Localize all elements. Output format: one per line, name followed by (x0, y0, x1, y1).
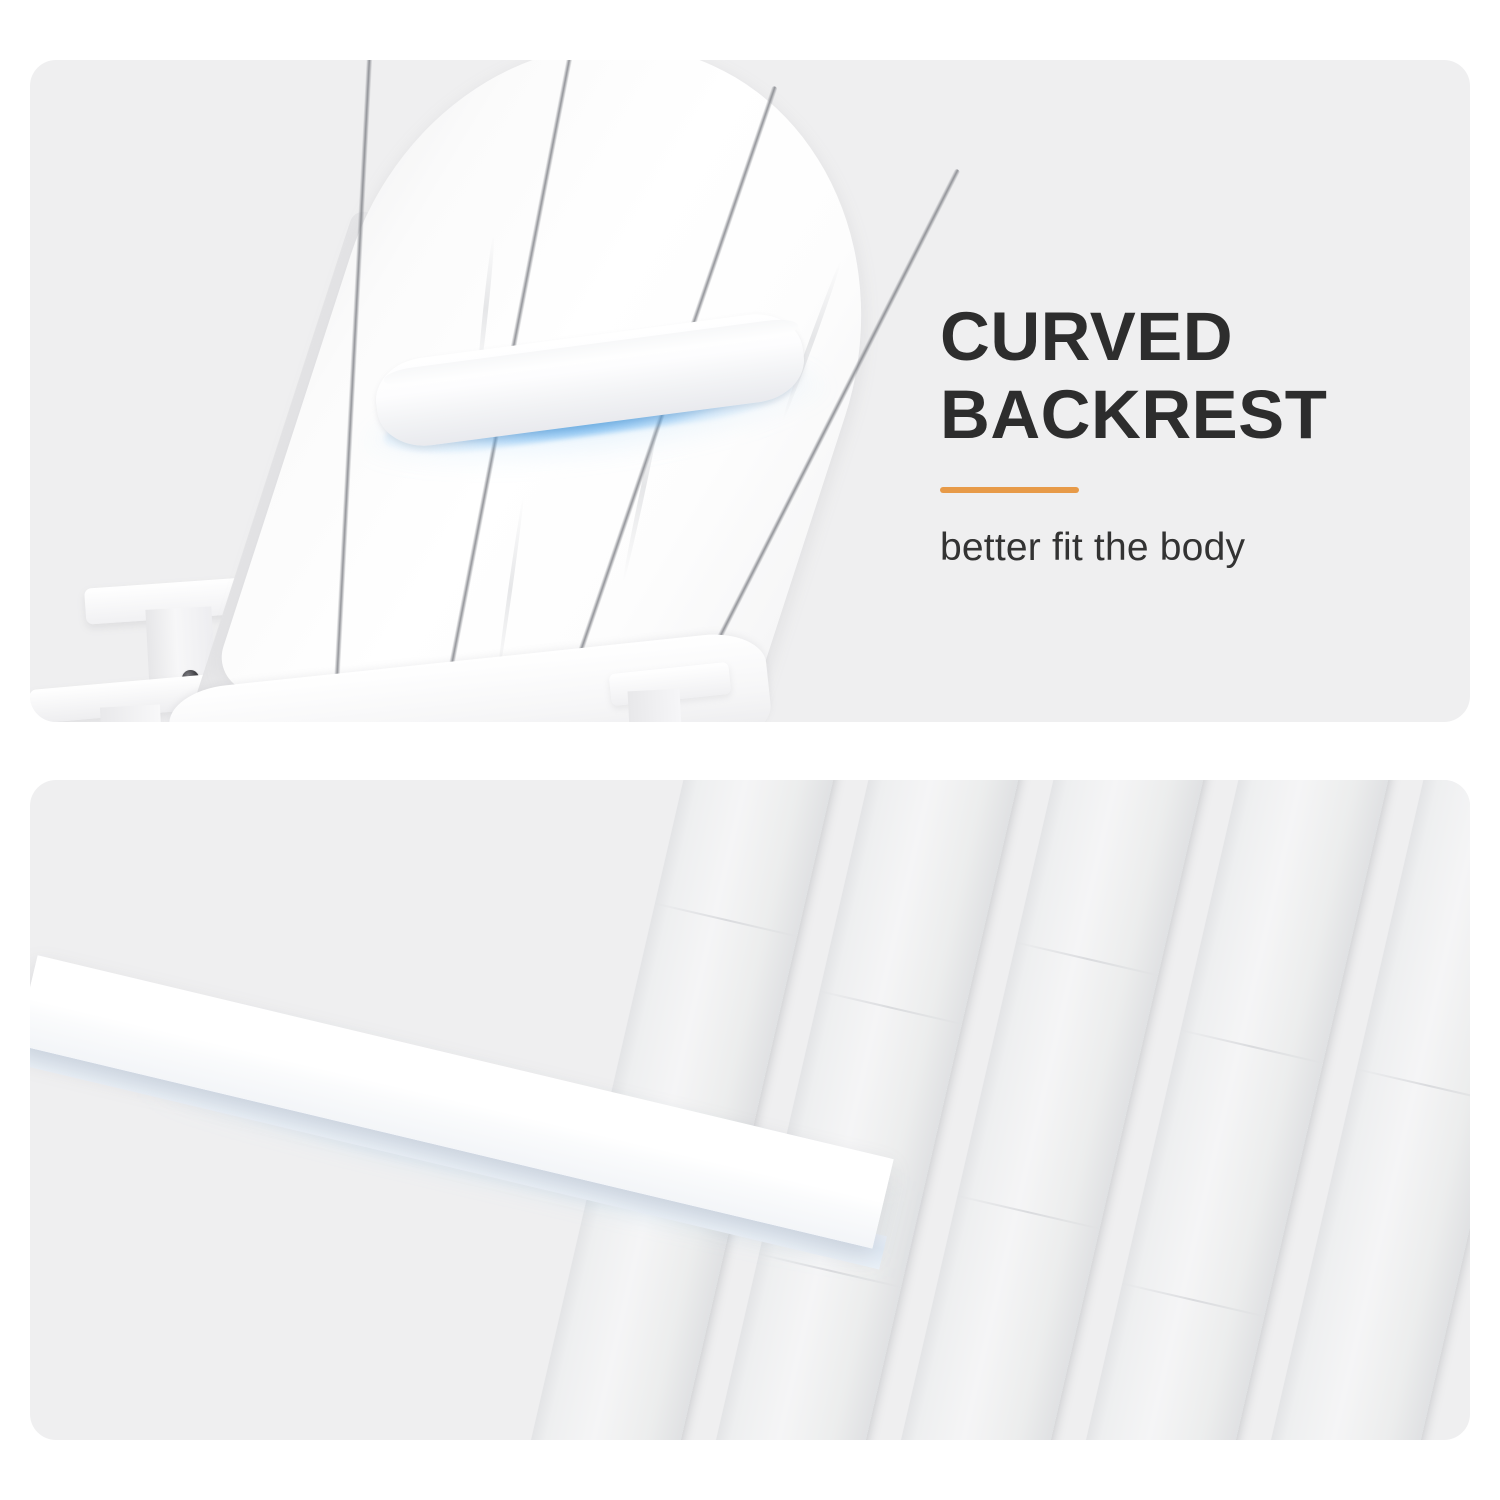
feature-panel-wide-armrests: WIDE ARMRESTS for better arm relaxation (30, 780, 1470, 1440)
chair-post-right (628, 689, 685, 722)
chair-post-lower-left (100, 704, 164, 722)
infographic-page: CURVED BACKREST better fit the body (0, 0, 1500, 1500)
slat-groove (333, 60, 376, 699)
panel-subtitle: better fit the body (940, 525, 1440, 571)
accent-divider (940, 487, 1079, 493)
feature-text-curved-backrest: CURVED BACKREST better fit the body (940, 298, 1440, 571)
panel-heading: CURVED BACKREST (940, 298, 1440, 454)
backrest-slat-field (630, 780, 1470, 1440)
chair-armrest-illustration (30, 780, 1470, 1440)
feature-panel-curved-backrest: CURVED BACKREST better fit the body (30, 60, 1470, 722)
